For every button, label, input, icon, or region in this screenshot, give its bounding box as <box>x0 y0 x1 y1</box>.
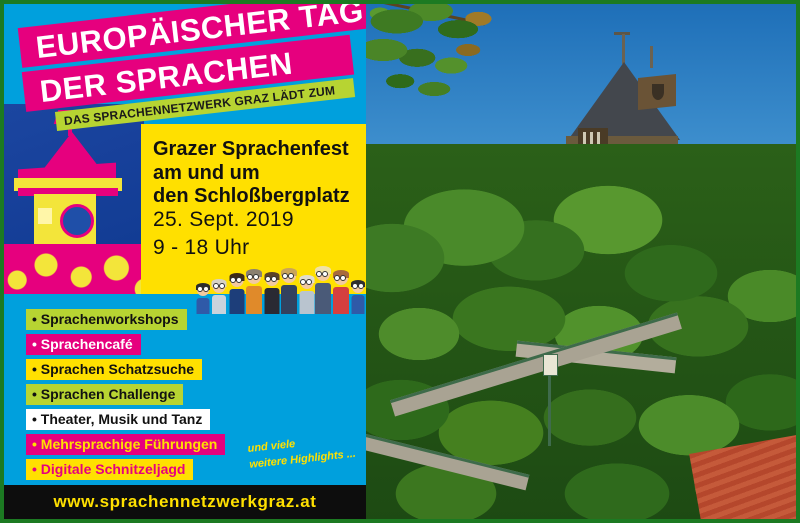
stairway-lamp <box>548 372 551 446</box>
website-bar: www.sprachennetzwerkgraz.at <box>4 485 366 519</box>
program-item-5: • Mehrsprachige Führungen <box>26 434 225 455</box>
cartoon-people-crowd <box>194 256 366 314</box>
figure-body <box>281 285 297 314</box>
figure-body <box>299 291 314 314</box>
figure-eye-right <box>271 276 277 282</box>
program-item-1: • Sprachencafé <box>26 334 141 355</box>
figure-eye-right <box>340 275 346 281</box>
program-item-3: • Sprachen Challenge <box>26 384 183 405</box>
program-list: • Sprachenworkshops• Sprachencafé• Sprac… <box>26 309 225 484</box>
illustration-tower-window <box>38 208 52 224</box>
figure-body <box>333 287 349 314</box>
illustration-hillside-trees <box>4 244 144 294</box>
event-title-line-3: den Schloßbergplatz <box>153 185 366 209</box>
event-title: Grazer Sprachenfest am und um den Schloß… <box>153 138 366 209</box>
list-item: • Theater, Musik und Tanz <box>26 409 225 434</box>
poster-inner: EUROPÄISCHER TAG DER SPRACHEN DAS SPRACH… <box>4 4 796 519</box>
event-title-line-2: am und um <box>153 162 366 186</box>
website-url: www.sprachennetzwerkgraz.at <box>4 492 366 512</box>
tower-spire <box>622 34 625 64</box>
program-item-2: • Sprachen Schatzsuche <box>26 359 202 380</box>
figure-body <box>315 283 331 314</box>
figure-body <box>264 288 279 314</box>
figure-eye-right <box>236 277 242 283</box>
program-item-4: • Theater, Musik und Tanz <box>26 409 210 430</box>
bell-icon <box>652 84 664 100</box>
figure-eye-right <box>288 273 294 279</box>
clock-tower-illustration <box>4 104 144 294</box>
figure-eye-right <box>306 279 312 285</box>
figure-body <box>246 286 262 314</box>
crowd-figure-3 <box>244 270 264 314</box>
figure-body <box>351 295 364 314</box>
program-item-6: • Digitale Schnitzeljagd <box>26 459 193 480</box>
crowd-figure-7 <box>313 267 333 314</box>
crowd-figure-9 <box>349 281 366 314</box>
list-item: • Sprachenworkshops <box>26 309 225 334</box>
list-item: • Mehrsprachige Führungen <box>26 434 225 459</box>
illustration-clock-face <box>60 204 94 238</box>
figure-eye-right <box>322 271 328 277</box>
program-item-0: • Sprachenworkshops <box>26 309 187 330</box>
list-item: • Sprachen Challenge <box>26 384 225 409</box>
list-item: • Digitale Schnitzeljagd <box>26 459 225 484</box>
event-date: 25. Sept. 2019 <box>153 208 294 232</box>
poster-image: EUROPÄISCHER TAG DER SPRACHEN DAS SPRACH… <box>0 0 800 523</box>
more-highlights-note: und viele weitere Highlights ... <box>247 429 366 473</box>
list-item: • Sprachencafé <box>26 334 225 359</box>
uhrturm-photograph <box>366 4 796 519</box>
figure-body <box>229 289 244 314</box>
left-info-panel: EUROPÄISCHER TAG DER SPRACHEN DAS SPRACH… <box>4 4 366 519</box>
figure-eye-right <box>219 283 225 289</box>
list-item: • Sprachen Schatzsuche <box>26 359 225 384</box>
crowd-figure-8 <box>331 271 351 314</box>
figure-eye-right <box>253 274 259 280</box>
crowd-figure-5 <box>279 269 299 314</box>
foliage-foreground <box>366 4 526 128</box>
event-title-line-1: Grazer Sprachenfest <box>153 138 366 162</box>
